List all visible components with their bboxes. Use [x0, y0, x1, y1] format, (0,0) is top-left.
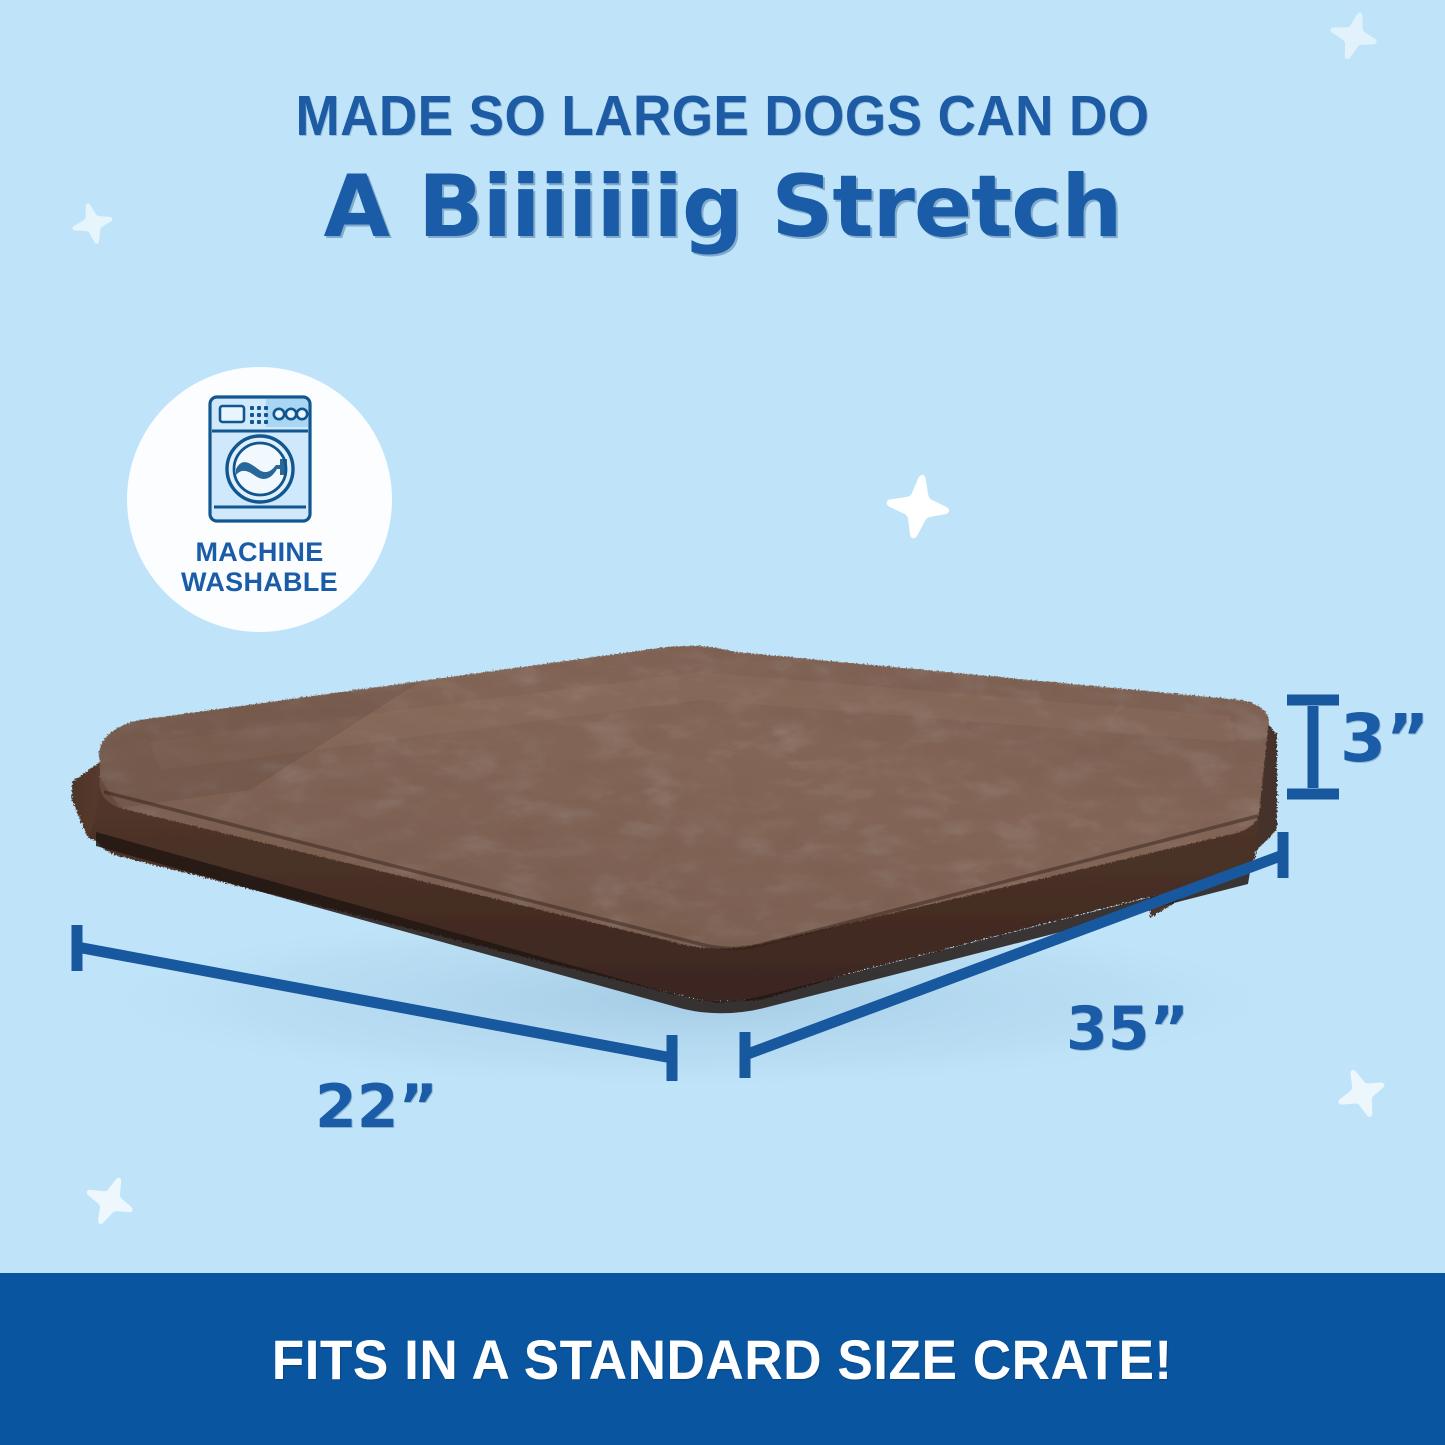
banner-text: FITS IN A STANDARD SIZE CRATE! [272, 1327, 1173, 1392]
dimension-lines-layer [0, 0, 1445, 1445]
dimension-label-width: 22” [315, 1072, 438, 1142]
dimension-label-length: 35” [1066, 994, 1189, 1064]
dimension-width-22in-line [77, 925, 672, 1081]
dimension-label-height: 3” [1340, 700, 1429, 777]
dimension-height-3in-line [1287, 700, 1339, 794]
dimension-length-35in-line [745, 832, 1283, 1078]
bottom-banner: FITS IN A STANDARD SIZE CRATE! [0, 1273, 1445, 1445]
product-infographic-poster: MADE SO LARGE DOGS CAN DO A Biiiiiiig St… [0, 0, 1445, 1445]
